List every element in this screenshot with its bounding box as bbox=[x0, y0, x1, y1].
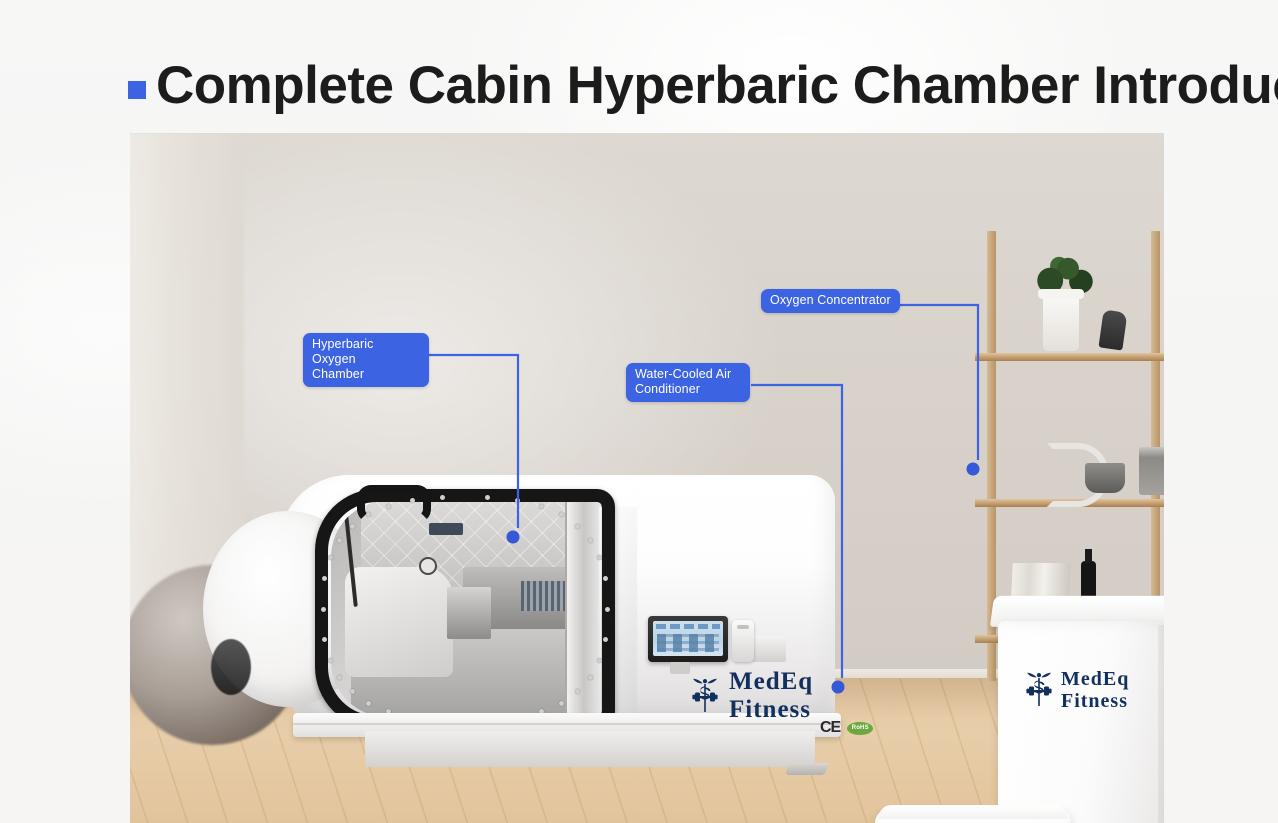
concentrator-side-panel bbox=[1158, 625, 1164, 823]
shelf-board-top bbox=[975, 353, 1164, 361]
chamber-door-ring bbox=[315, 489, 615, 729]
chamber-brand-logo: MedEq Fitness bbox=[690, 669, 813, 722]
brand-line-2: Fitness bbox=[729, 697, 813, 722]
caduceus-dumbbell-icon bbox=[1024, 671, 1054, 709]
brand-line-2: Fitness bbox=[1061, 691, 1129, 711]
brand-line-1: MedEq bbox=[729, 669, 813, 694]
brand-line-1: MedEq bbox=[1061, 669, 1129, 689]
oxygen-concentrator: MedEq Fitness bbox=[992, 595, 1164, 823]
caduceus-dumbbell-icon bbox=[690, 677, 720, 715]
chamber-cap-port bbox=[211, 639, 251, 695]
product-photo: MedEq Fitness CE RoHS bbox=[130, 133, 1164, 823]
water-cooled-air-conditioner: MedEq Fitness bbox=[875, 805, 1071, 823]
ce-mark: CE bbox=[820, 719, 840, 737]
certification-marks: CE RoHS bbox=[820, 719, 873, 737]
chamber-foot bbox=[785, 763, 829, 775]
callout-oxygen-concentrator[interactable]: Oxygen Concentrator bbox=[761, 289, 900, 313]
callout-hyperbaric-oxygen-chamber[interactable]: Hyperbaric Oxygen Chamber bbox=[303, 333, 429, 387]
callout-water-cooled-air-conditioner[interactable]: Water-Cooled Air Conditioner bbox=[626, 363, 750, 402]
page-title-row: Complete Cabin Hyperbaric Chamber Introd… bbox=[128, 52, 1178, 118]
brand-wordmark: MedEq Fitness bbox=[729, 669, 813, 722]
concentrator-body bbox=[998, 621, 1164, 823]
concentrator-brand-logo: MedEq Fitness bbox=[1024, 669, 1129, 711]
intercom-handset[interactable] bbox=[732, 620, 754, 662]
page-title: Complete Cabin Hyperbaric Chamber Introd… bbox=[156, 59, 1278, 112]
control-panel-screen[interactable] bbox=[653, 621, 723, 656]
chamber-base-skirt bbox=[365, 731, 815, 767]
aircon-top-cover bbox=[879, 805, 1067, 819]
shelf-decor-object bbox=[1098, 310, 1127, 351]
chamber-vent-box bbox=[752, 636, 786, 662]
control-panel-stand bbox=[670, 662, 690, 674]
rohs-mark: RoHS bbox=[847, 722, 873, 735]
brand-wordmark: MedEq Fitness bbox=[1061, 669, 1129, 711]
plant-pot bbox=[1043, 293, 1079, 351]
shelf-jar bbox=[1139, 447, 1164, 495]
shelf-bowl bbox=[1085, 463, 1125, 493]
chamber-door-handle bbox=[357, 485, 431, 523]
chamber-control-panel[interactable] bbox=[648, 616, 728, 662]
square-bullet-icon bbox=[128, 81, 146, 99]
